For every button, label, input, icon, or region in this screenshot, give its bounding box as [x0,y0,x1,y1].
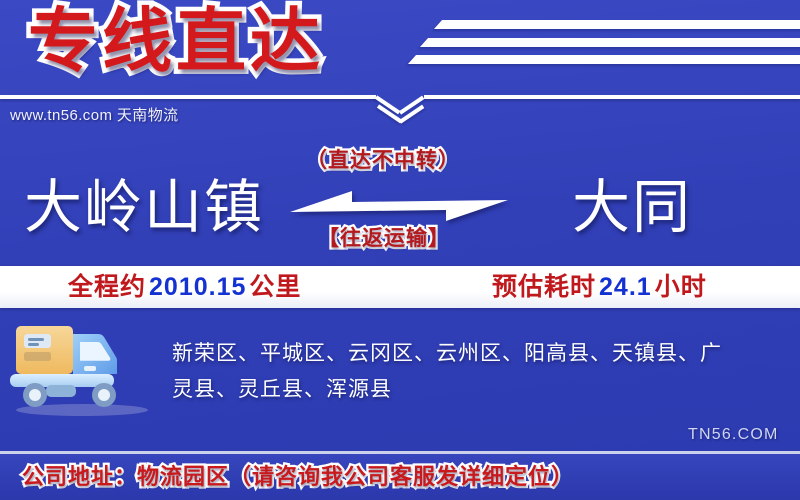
origin-city-label: 大岭山镇 [24,150,264,265]
bidirectional-arrow-icon [290,186,508,226]
decor-stripe-3 [408,55,800,64]
destination-city-label: 大同 [572,150,692,265]
duration-value: 24.1 [596,273,655,301]
logistics-route-banner: 专线直达 www.tn56.com 天南物流 大岭山镇 （直达不中转） 【往返运… [0,0,800,500]
website-label: www.tn56.com 天南物流 [10,104,179,125]
direct-service-tagline: （直达不中转） [306,144,460,174]
duration-unit: 小时 [655,273,707,301]
duration-metric: 预估耗时24.1小时 [492,266,707,308]
company-address-label: 公司地址：物流园区（请咨询我公司客服发详细定位） [22,454,574,500]
coverage-line-1: 新荣区、平城区、云冈区、云州区、阳高县、天镇县、广 [172,336,772,372]
footer-bar: 公司地址：物流园区（请咨询我公司客服发详细定位） [0,454,800,500]
distance-prefix: 全程约 [68,273,146,301]
banner-header: 专线直达 www.tn56.com 天南物流 [0,0,800,132]
delivery-truck-icon [6,322,156,418]
distance-unit: 公里 [249,273,301,301]
header-rule-right [424,95,800,99]
distance-metric: 全程约2010.15公里 [68,266,301,308]
decor-stripe-2 [420,38,800,47]
coverage-line-2: 灵县、灵丘县、浑源县 [172,372,772,408]
round-trip-tagline: 【往返运输】 [318,222,450,252]
metrics-band: 全程约2010.15公里 预估耗时24.1小时 [0,266,800,308]
distance-value: 2010.15 [146,273,249,301]
duration-prefix: 预估耗时 [492,273,596,301]
header-rule-left [0,95,376,99]
route-row: 大岭山镇 （直达不中转） 【往返运输】 大同 [0,150,800,265]
headline-title: 专线直达 [28,2,324,80]
site-watermark: TN56.COM [688,426,779,444]
decor-stripe-1 [434,20,800,29]
coverage-area-list: 新荣区、平城区、云冈区、云州区、阳高县、天镇县、广 灵县、灵丘县、浑源县 [172,336,772,408]
